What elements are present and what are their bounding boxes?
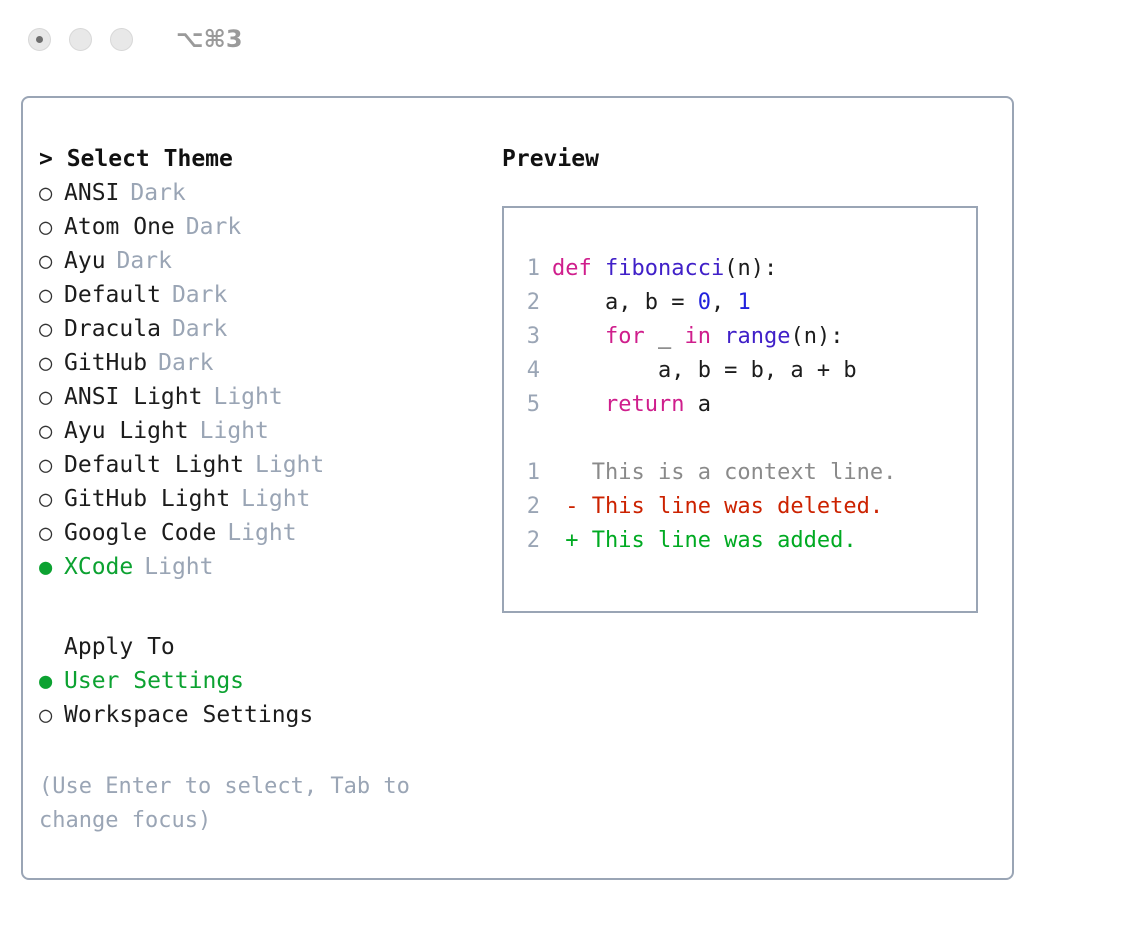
code-line-number: 1 [514,252,540,286]
theme-option-0[interactable]: ○ANSIDark [39,176,499,210]
app-root: ⌥⌘3 > Select Theme ○ANSIDark○Atom OneDar… [0,0,1140,934]
code-line-content: for _ in range(n): [552,320,843,354]
preview-pane: Preview 1def fibonacci(n):2 a, b = 0, 13… [502,142,992,613]
apply-to-option-label: User Settings [64,664,244,698]
theme-option-label: Ayu [64,244,106,278]
theme-option-variant: Light [227,516,296,550]
theme-option-3[interactable]: ○DefaultDark [39,278,499,312]
theme-option-label: Default Light [64,448,244,482]
diff-line-number: 1 [514,456,540,490]
apply-to-header-label: Apply To [64,630,175,664]
code-line-number: 4 [514,354,540,388]
keyboard-shortcut-label: ⌥⌘3 [176,25,243,53]
title-bar: ⌥⌘3 [0,0,1140,78]
window-light-pip [36,36,43,43]
token-fn: range [724,324,790,349]
section-spacer [39,584,499,630]
code-line: 4 a, b = b, a + b [514,354,976,388]
theme-option-list[interactable]: ○ANSIDark○Atom OneDark○AyuDark○DefaultDa… [39,176,499,584]
window-light-second[interactable] [69,28,92,51]
window-columns: > Select Theme ○ANSIDark○Atom OneDark○Ay… [23,98,1012,878]
token-num: 0 [698,290,711,315]
code-diff-spacer [514,422,976,456]
code-line-content: def fibonacci(n): [552,252,777,286]
theme-option-variant: Dark [172,278,227,312]
token-plain [552,324,605,349]
theme-option-11[interactable]: ●XCodeLight [39,550,499,584]
token-add: + This line was added. [552,528,857,553]
token-ctx: This is a context line. [552,460,896,485]
diff-line-number: 2 [514,490,540,524]
token-kw: def [552,256,605,281]
theme-option-label: Dracula [64,312,161,346]
theme-option-label: Ayu Light [64,414,189,448]
radio-selected-icon: ● [39,551,64,585]
radio-unselected-icon: ○ [39,699,64,733]
token-plain [552,392,605,417]
diff-line: 2 - This line was deleted. [514,490,976,524]
theme-option-2[interactable]: ○AyuDark [39,244,499,278]
theme-option-label: ANSI [64,176,119,210]
radio-unselected-icon: ○ [39,381,64,415]
apply-to-header-row: ○ Apply To [39,630,499,664]
diff-line-content: - This line was deleted. [552,490,883,524]
token-plain: , [711,290,738,315]
radio-unselected-icon: ○ [39,517,64,551]
theme-selection-pane: > Select Theme ○ANSIDark○Atom OneDark○Ay… [39,142,499,838]
radio-unselected-icon: ○ [39,449,64,483]
radio-unselected-icon: ○ [39,415,64,449]
token-del: - This line was deleted. [552,494,883,519]
theme-option-10[interactable]: ○Google CodeLight [39,516,499,550]
code-line: 2 a, b = 0, 1 [514,286,976,320]
preview-title: Preview [502,142,992,176]
radio-unselected-icon: ○ [39,483,64,517]
theme-option-9[interactable]: ○GitHub LightLight [39,482,499,516]
token-plain: (n): [724,256,777,281]
theme-option-variant: Dark [186,210,241,244]
code-line-number: 2 [514,286,540,320]
select-theme-header: > Select Theme [39,142,499,176]
code-line: 5 return a [514,388,976,422]
theme-option-variant: Dark [130,176,185,210]
radio-unselected-icon: ○ [39,347,64,381]
code-line-number: 3 [514,320,540,354]
apply-to-option-list[interactable]: ●User Settings○Workspace Settings [39,664,499,732]
diff-line-number: 2 [514,524,540,558]
preview-code-box: 1def fibonacci(n):2 a, b = 0, 13 for _ i… [502,206,978,613]
code-sample: 1def fibonacci(n):2 a, b = 0, 13 for _ i… [514,252,976,422]
radio-unselected-icon: ○ [39,313,64,347]
radio-unselected-icon: ○ [39,177,64,211]
window-light-active[interactable] [28,28,51,51]
keyboard-hint-text: (Use Enter to select, Tab to change focu… [39,770,449,838]
apply-to-option-label: Workspace Settings [64,698,313,732]
theme-option-label: Google Code [64,516,216,550]
diff-line: 1 This is a context line. [514,456,976,490]
theme-option-label: Atom One [64,210,175,244]
token-plain: a, b = b, a + b [552,358,857,383]
theme-option-label: GitHub Light [64,482,230,516]
theme-option-6[interactable]: ○ANSI LightLight [39,380,499,414]
token-kw: for [605,324,645,349]
main-window: > Select Theme ○ANSIDark○Atom OneDark○Ay… [21,96,1014,880]
diff-line: 2 + This line was added. [514,524,976,558]
token-plain: a, b = [552,290,698,315]
theme-option-label: ANSI Light [64,380,202,414]
radio-unselected-icon: ○ [39,245,64,279]
token-fn: fibonacci [605,256,724,281]
radio-selected-icon: ● [39,665,64,699]
theme-option-4[interactable]: ○DraculaDark [39,312,499,346]
theme-option-variant: Light [213,380,282,414]
window-controls[interactable] [28,28,133,51]
token-kw: in [684,324,711,349]
code-line: 1def fibonacci(n): [514,252,976,286]
theme-option-variant: Light [241,482,310,516]
theme-option-1[interactable]: ○Atom OneDark [39,210,499,244]
diff-sample: 1 This is a context line.2 - This line w… [514,456,976,558]
apply-to-option-1[interactable]: ○Workspace Settings [39,698,499,732]
radio-unselected-icon: ○ [39,211,64,245]
theme-option-label: Default [64,278,161,312]
radio-unselected-icon: ○ [39,279,64,313]
apply-to-header-marker-spacer: ○ [39,631,64,665]
code-line-content: a, b = b, a + b [552,354,857,388]
token-plain: (n): [790,324,843,349]
theme-option-variant: Dark [172,312,227,346]
theme-option-variant: Dark [158,346,213,380]
theme-option-8[interactable]: ○Default LightLight [39,448,499,482]
theme-option-7[interactable]: ○Ayu LightLight [39,414,499,448]
theme-option-variant: Light [144,550,213,584]
diff-line-content: + This line was added. [552,524,857,558]
apply-to-option-0[interactable]: ●User Settings [39,664,499,698]
theme-option-variant: Light [200,414,269,448]
token-plain: a [684,392,711,417]
code-line: 3 for _ in range(n): [514,320,976,354]
code-line-content: return a [552,388,711,422]
theme-option-label: GitHub [64,346,147,380]
code-line-content: a, b = 0, 1 [552,286,751,320]
diff-line-content: This is a context line. [552,456,896,490]
theme-option-variant: Dark [117,244,172,278]
theme-option-label: XCode [64,550,133,584]
window-light-third[interactable] [110,28,133,51]
token-num: 1 [737,290,750,315]
token-plain [711,324,724,349]
code-line-number: 5 [514,388,540,422]
token-kw: return [605,392,684,417]
token-plain: _ [645,324,685,349]
theme-option-5[interactable]: ○GitHubDark [39,346,499,380]
theme-option-variant: Light [255,448,324,482]
